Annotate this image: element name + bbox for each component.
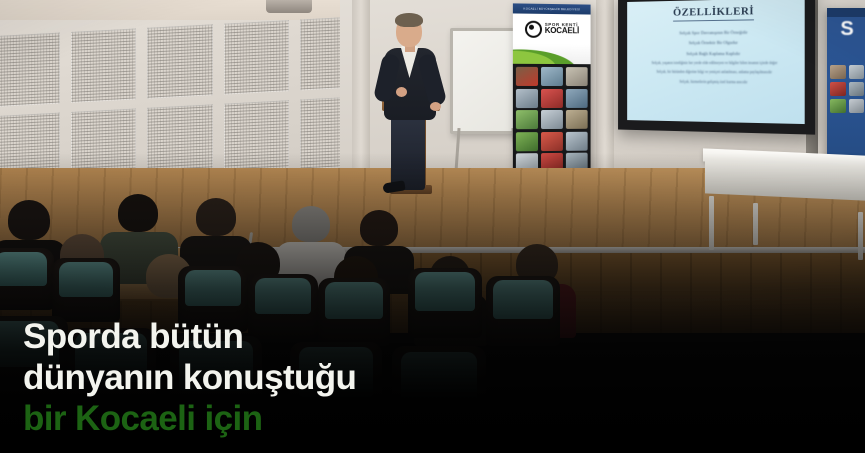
banner-photo-cell: [541, 88, 563, 107]
seat-cushion: [0, 252, 47, 286]
audience-head: [196, 198, 236, 236]
banner2-letter: S: [827, 19, 865, 39]
audience-head: [360, 210, 398, 246]
banner-photo-cell: [516, 110, 538, 129]
speaker-hair: [395, 13, 423, 27]
banner-photo-cell: [566, 110, 588, 129]
headline-line-1: Sporda bütün: [23, 316, 643, 357]
news-hero-image: ÖZELLİKLERİ Selçuk Spor Davranışının Bir…: [0, 0, 865, 453]
slide-title: ÖZELLİKLERİ: [673, 5, 754, 21]
banner2-photo-cell: [830, 65, 846, 79]
table-leg: [753, 203, 758, 245]
banner-photo-cell: [541, 131, 563, 150]
speaker-left-hand: [396, 87, 407, 97]
rollup-banner-kocaeli: KOCAELİ BÜYÜKŞEHİR BELEDİYESİ SPOR KENTİ…: [513, 3, 591, 185]
ceiling-projector-icon: [266, 0, 312, 13]
banner2-top-strip: [827, 8, 865, 17]
audience-head: [292, 206, 330, 242]
banner-photo-cell: [541, 110, 563, 129]
table-leg: [858, 212, 863, 260]
acoustic-panel: [147, 104, 213, 178]
slide-bullet: Selçuk, bir bütünden diğerine bilgi ve y…: [638, 70, 792, 76]
banner-brand: SPOR KENTİ KOCAELİ: [545, 23, 579, 36]
banner2-photo-cell: [830, 99, 846, 113]
banner2-photo-cell: [849, 65, 865, 79]
banner-photo-cell: [566, 89, 588, 108]
speaker-legs: [391, 114, 425, 190]
banner-photo-cell: [516, 132, 538, 151]
acoustic-panel: [0, 33, 60, 107]
seat-cushion: [59, 262, 113, 297]
seat-cushion: [493, 280, 552, 319]
acoustic-panel: [71, 28, 137, 102]
speaker-right-hand: [430, 102, 441, 111]
audience-head: [8, 200, 50, 240]
seat-cushion: [415, 272, 474, 311]
acoustic-panel: [147, 24, 213, 98]
banner-photo-cell: [516, 88, 538, 107]
banner2-photo-cell: [849, 82, 865, 96]
acoustic-panel: [224, 100, 290, 174]
slide-bullet: Selçuk Bağlı Kaplama Kaplıdır: [638, 50, 792, 57]
banner-photo-cell: [516, 67, 538, 86]
slide-bullet: Selçuk Spor Davranışının Bir Örneğidir: [638, 29, 792, 37]
projection-screen: ÖZELLİKLERİ Selçuk Spor Davranışının Bir…: [627, 0, 805, 124]
slide-bullet: Selçuk Örnektir Bir Olgudur: [638, 40, 792, 47]
slide-bullet: Selçuk, yaşanın istediğiniz her yerde el…: [638, 61, 792, 66]
auditorium-seat: [0, 248, 54, 310]
kocaeli-logo-icon: [525, 20, 542, 37]
headline-line-2: dünyanın konuştuğu: [23, 357, 643, 398]
banner2-photo-cell: [830, 82, 846, 96]
speaker-person: [372, 10, 446, 200]
seat-cushion: [325, 282, 383, 319]
banner-green-swoosh: [513, 44, 591, 65]
acoustic-panel: [224, 20, 290, 94]
banner2-photo-grid: [827, 65, 865, 113]
seat-cushion: [255, 278, 311, 314]
banner-photo-grid: [513, 64, 591, 176]
headline-line-3: bir Kocaeli için: [23, 398, 643, 439]
audience-head: [118, 194, 158, 232]
banner2-photo-cell: [849, 99, 865, 113]
white-table-apron: [705, 159, 865, 200]
headline-block: Sporda bütün dünyanın konuştuğu bir Koca…: [23, 316, 643, 439]
seat-cushion: [185, 270, 241, 306]
banner-top-text: KOCAELİ BÜYÜKŞEHİR BELEDİYESİ: [524, 7, 581, 12]
banner-photo-cell: [541, 67, 563, 86]
banner-brand-line2: KOCAELİ: [545, 27, 579, 35]
slide-bullet-list: Selçuk Spor Davranışının Bir Örneğidir S…: [627, 29, 805, 86]
acoustic-panel-grid: [0, 16, 366, 186]
banner-logo: SPOR KENTİ KOCAELİ: [513, 13, 591, 44]
slide-bullet: Selçuk, hizmetlerin gelişmiş özel kurma …: [638, 79, 792, 85]
auditorium-seat: [52, 258, 120, 322]
banner-photo-cell: [566, 131, 588, 150]
projection-screen-frame: ÖZELLİKLERİ Selçuk Spor Davranışının Bir…: [618, 0, 815, 135]
banner-photo-cell: [566, 67, 588, 86]
speaker-shoe: [382, 180, 405, 193]
table-leg: [709, 196, 714, 250]
